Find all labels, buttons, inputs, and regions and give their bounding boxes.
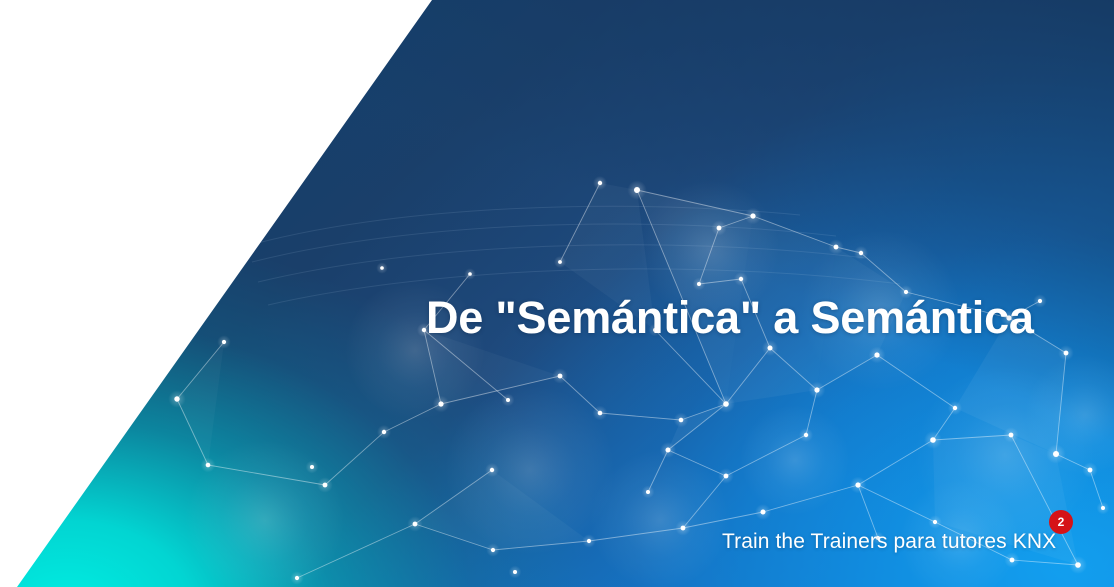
page-number-badge: 2 (1049, 510, 1073, 534)
presentation-slide: De "Semántica" a Semántica Train the Tra… (0, 0, 1114, 587)
slide-footer-text: Train the Trainers para tutores KNX (722, 530, 1056, 554)
slide-title: De "Semántica" a Semántica (426, 294, 1026, 343)
